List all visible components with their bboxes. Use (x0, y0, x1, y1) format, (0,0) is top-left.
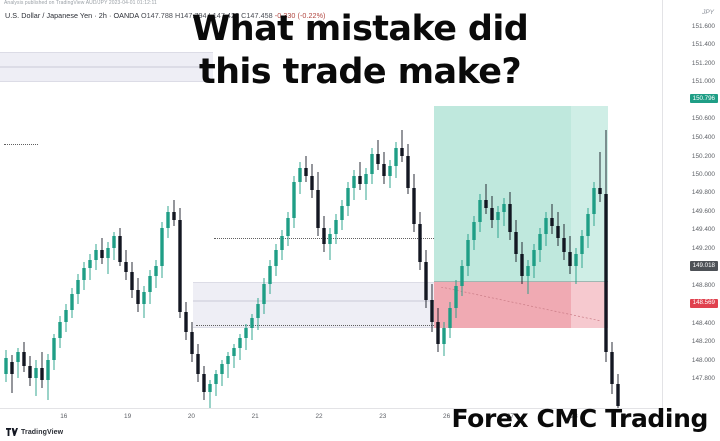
time-tick: 21 (252, 413, 259, 420)
candle-body[interactable] (364, 174, 367, 184)
candle-body[interactable] (208, 384, 211, 392)
candle-body[interactable] (508, 204, 511, 232)
time-tick: 20 (188, 413, 195, 420)
candle-body[interactable] (610, 352, 613, 384)
time-tick: 23 (379, 413, 386, 420)
candle-body[interactable] (76, 280, 79, 294)
candle-body[interactable] (310, 176, 313, 190)
candle-body[interactable] (334, 220, 337, 234)
candle-body[interactable] (574, 254, 577, 266)
price-axis[interactable]: JPY 151.600151.400151.200151.000150.6001… (662, 0, 720, 408)
candle-body[interactable] (118, 236, 121, 262)
candle-body[interactable] (70, 294, 73, 310)
candle-body[interactable] (604, 194, 607, 352)
candle-body[interactable] (556, 226, 559, 238)
candle-body[interactable] (28, 366, 31, 378)
interval-label[interactable]: 2h (99, 11, 107, 20)
candle-body[interactable] (394, 148, 397, 166)
candle-body[interactable] (322, 228, 325, 244)
candle-body[interactable] (490, 208, 493, 220)
price-tick: 147.800 (692, 375, 715, 382)
candle-body[interactable] (262, 284, 265, 304)
candle-body[interactable] (352, 176, 355, 188)
candle-body[interactable] (346, 188, 349, 206)
price-axis-unit: JPY (702, 9, 714, 16)
tradingview-chart-screenshot: Analysis published on TradingView AUD/JP… (0, 0, 720, 441)
price-tick: 150.200 (692, 153, 715, 160)
candle-body[interactable] (580, 236, 583, 254)
candle-body[interactable] (4, 358, 7, 374)
price-tick: 148.200 (692, 338, 715, 345)
price-tick: 149.600 (692, 208, 715, 215)
candle-body[interactable] (598, 188, 601, 194)
candle-body[interactable] (550, 218, 553, 226)
candle-body[interactable] (94, 250, 97, 260)
candle-body[interactable] (274, 250, 277, 266)
candle-body[interactable] (418, 224, 421, 262)
candle-body[interactable] (400, 148, 403, 156)
candle-body[interactable] (292, 182, 295, 218)
candle-body[interactable] (136, 290, 139, 304)
price-tick: 151.600 (692, 23, 715, 30)
candle-body[interactable] (478, 200, 481, 222)
candle-body[interactable] (586, 214, 589, 236)
price-tick: 148.800 (692, 282, 715, 289)
candle-body[interactable] (616, 384, 619, 406)
candle-body[interactable] (592, 188, 595, 214)
candle-body[interactable] (10, 362, 13, 374)
low-value: 147.422 (213, 11, 239, 20)
candle-body[interactable] (454, 286, 457, 308)
candle-body[interactable] (268, 266, 271, 284)
candle-body[interactable] (40, 368, 43, 380)
price-tick: 151.200 (692, 60, 715, 67)
candle-body[interactable] (526, 266, 529, 276)
candle-body[interactable] (298, 168, 301, 182)
candle-body[interactable] (460, 266, 463, 286)
candle-body[interactable] (538, 234, 541, 250)
candle-body[interactable] (100, 250, 103, 258)
candle-body[interactable] (178, 220, 181, 312)
open-value: 147.788 (147, 11, 173, 20)
candlestick-series[interactable] (0, 22, 662, 408)
candle-body[interactable] (244, 328, 247, 338)
candle-body[interactable] (430, 300, 433, 322)
candle-body[interactable] (442, 328, 445, 344)
candle-body[interactable] (46, 360, 49, 380)
candle-body[interactable] (232, 348, 235, 356)
candle-body[interactable] (544, 218, 547, 234)
candle-body[interactable] (388, 166, 391, 176)
candle-body[interactable] (280, 236, 283, 250)
price-tick: 148.400 (692, 320, 715, 327)
candle-body[interactable] (88, 260, 91, 268)
candle-body[interactable] (202, 374, 205, 392)
candle-body[interactable] (466, 240, 469, 266)
candle-body[interactable] (382, 164, 385, 176)
time-tick: 19 (124, 413, 131, 420)
close-value: 147.458 (246, 11, 272, 20)
price-tick: 150.000 (692, 171, 715, 178)
candle-body[interactable] (376, 154, 379, 164)
price-tick: 151.400 (692, 41, 715, 48)
candle-body[interactable] (424, 262, 427, 300)
exchange-label: OANDA (113, 11, 138, 20)
candle-body[interactable] (22, 352, 25, 366)
candle-body[interactable] (472, 222, 475, 240)
candle-body[interactable] (184, 312, 187, 332)
candle-body[interactable] (124, 262, 127, 272)
candle-body[interactable] (130, 272, 133, 290)
candle-body[interactable] (154, 266, 157, 276)
candle-body[interactable] (142, 292, 145, 304)
candle-body[interactable] (436, 322, 439, 344)
price-tick: 148.000 (692, 357, 715, 364)
candle-body[interactable] (370, 154, 373, 174)
time-tick: 16 (60, 413, 67, 420)
candle-body[interactable] (304, 168, 307, 176)
candle-body[interactable] (568, 252, 571, 266)
candle-body[interactable] (58, 322, 61, 338)
chart-plot-area[interactable] (0, 22, 662, 408)
candle-body[interactable] (16, 352, 19, 362)
candle-body[interactable] (82, 268, 85, 280)
tradingview-logo[interactable]: TradingView (6, 428, 63, 436)
candle-body[interactable] (514, 232, 517, 254)
candle-body[interactable] (106, 248, 109, 258)
candle-body[interactable] (196, 354, 199, 374)
tradingview-mark-icon (6, 428, 18, 436)
candle-body[interactable] (484, 200, 487, 208)
price-tick: 150.400 (692, 134, 715, 141)
publish-note: Analysis published on TradingView AUD/JP… (4, 0, 157, 6)
candle-body[interactable] (256, 304, 259, 318)
entry-price-badge[interactable]: 149.018 (690, 261, 718, 270)
candle-body[interactable] (358, 176, 361, 184)
change-value: -0.330 (-0.22%) (275, 11, 326, 20)
candle-body[interactable] (562, 238, 565, 252)
symbol-info-bar[interactable]: U.S. Dollar / Japanese Yen · 2h · OANDA … (5, 11, 325, 20)
candle-body[interactable] (448, 308, 451, 328)
price-tick: 150.600 (692, 115, 715, 122)
price-tick: 149.200 (692, 245, 715, 252)
candle-body[interactable] (148, 276, 151, 292)
candle-body[interactable] (214, 374, 217, 384)
candle-body[interactable] (160, 228, 163, 266)
candle-body[interactable] (226, 356, 229, 364)
candle-body[interactable] (112, 236, 115, 248)
candle-body[interactable] (238, 338, 241, 348)
channel-watermark: Forex CMC Trading (452, 404, 709, 433)
price-tick: 149.400 (692, 226, 715, 233)
candle-body[interactable] (220, 364, 223, 374)
candle-body[interactable] (496, 212, 499, 220)
candle-body[interactable] (502, 204, 505, 212)
candle-body[interactable] (166, 212, 169, 228)
candle-body[interactable] (190, 332, 193, 354)
time-tick: 22 (315, 413, 322, 420)
price-tick: 151.000 (692, 78, 715, 85)
candle-body[interactable] (34, 368, 37, 378)
candle-body[interactable] (412, 188, 415, 224)
current-price-badge[interactable]: 148.569 (690, 299, 718, 308)
candle-body[interactable] (340, 206, 343, 220)
candle-body[interactable] (250, 318, 253, 328)
symbol-name[interactable]: U.S. Dollar / Japanese Yen (5, 11, 92, 20)
candle-body[interactable] (328, 234, 331, 244)
target-price-badge[interactable]: 150.796 (690, 94, 718, 103)
tradingview-wordmark: TradingView (21, 429, 63, 436)
high-value: 147.794 (180, 11, 206, 20)
candle-body[interactable] (286, 218, 289, 236)
candle-body[interactable] (52, 338, 55, 360)
candle-body[interactable] (520, 254, 523, 276)
candle-body[interactable] (316, 190, 319, 228)
price-tick: 149.800 (692, 189, 715, 196)
candle-body[interactable] (532, 250, 535, 266)
candle-body[interactable] (64, 310, 67, 322)
time-tick: 26 (443, 413, 450, 420)
candle-body[interactable] (406, 156, 409, 188)
candle-body[interactable] (172, 212, 175, 220)
